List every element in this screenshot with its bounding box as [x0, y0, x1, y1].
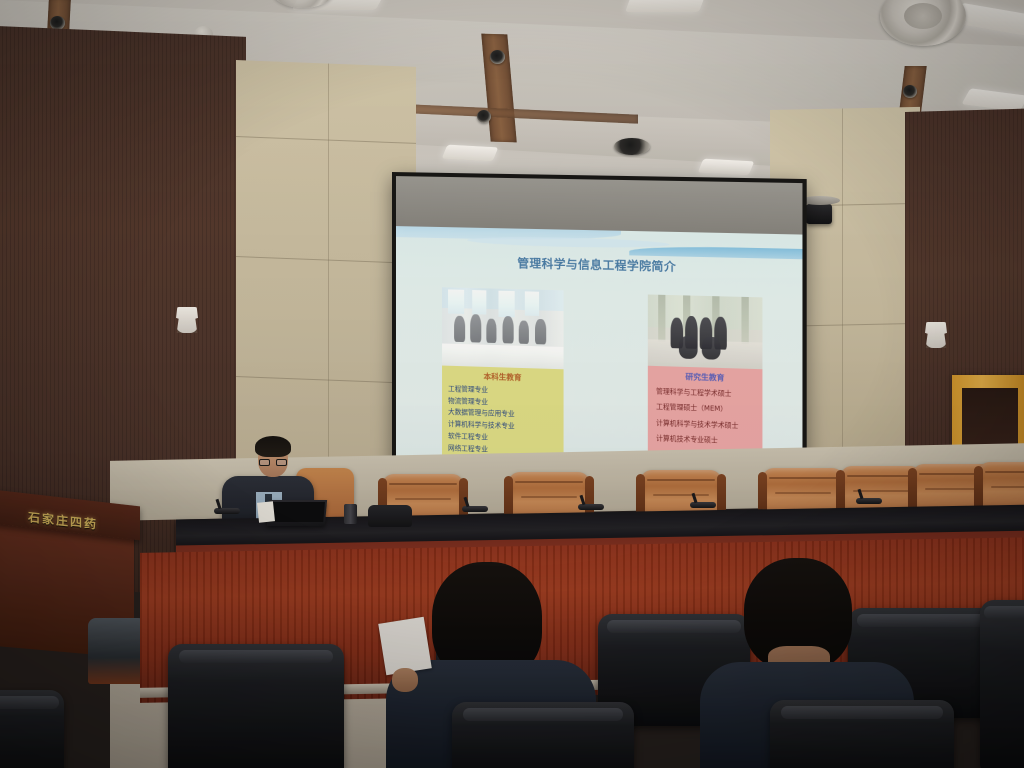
- ceiling-light-bar-5: [442, 145, 499, 162]
- photo-window: [472, 290, 486, 315]
- seat-headrest: [179, 650, 334, 663]
- ceiling-light-bar-2: [625, 0, 705, 12]
- wall-seam: [236, 256, 416, 264]
- photo-graduate: [679, 336, 698, 359]
- wall-sconce-light-left: [176, 307, 198, 333]
- audience-seat-far-right: [980, 600, 1024, 768]
- photo-window: [525, 291, 539, 316]
- classroom-photo: [442, 287, 564, 369]
- microphone-5: [856, 498, 882, 504]
- ceiling-spot-5: [903, 85, 917, 98]
- ceiling-spot-3: [490, 50, 505, 64]
- wall-seam: [236, 376, 416, 384]
- photo-window: [498, 291, 514, 318]
- lectern-side-chair: [88, 618, 146, 684]
- seat-headrest: [984, 606, 1024, 619]
- slide-wave-decoration-3: [467, 236, 669, 250]
- air-vent-icon: [880, 0, 966, 46]
- photo-graduate: [702, 337, 721, 360]
- undergraduate-panel: 本科生教育 工程管理专业 物流管理专业 大数据管理与应用专业 计算机科学与技术专…: [442, 287, 564, 478]
- speaker-hair: [255, 436, 291, 457]
- photo-tree: [741, 297, 748, 344]
- attendee-left-hand: [392, 668, 418, 692]
- wall-sconce-light-right: [925, 322, 947, 348]
- audience-seat-front-right: [770, 700, 954, 768]
- projection-screen: 管理科学与信息工程学院简介: [392, 172, 807, 496]
- ceiling-spot-4: [477, 110, 491, 123]
- seat-headrest: [0, 696, 59, 709]
- microphone-1: [214, 508, 240, 514]
- audience-seat-far-left: [0, 690, 64, 768]
- microphone-4: [690, 502, 716, 508]
- thermos-cup: [344, 504, 357, 524]
- graduation-photo-image: [648, 294, 763, 369]
- laptop-screen: [269, 502, 325, 522]
- graduation-photo: [648, 294, 763, 369]
- photo-student: [535, 319, 546, 345]
- photo-student: [470, 314, 481, 342]
- graduate-program-list: 管理科学与工程学术硕士 工程管理硕士（MEM） 计算机科学与技术学术硕士 计算机…: [648, 381, 763, 451]
- wall-seam: [236, 136, 416, 144]
- seat-headrest: [857, 614, 989, 627]
- seat-headrest: [463, 708, 623, 721]
- photo-tree: [658, 295, 665, 342]
- photo-student: [519, 320, 529, 344]
- ceiling-light-bar-6: [698, 159, 755, 176]
- ceiling-projector-icon: [806, 204, 832, 224]
- audience-seat-front-left: [168, 644, 344, 768]
- seat-headrest: [781, 706, 943, 719]
- photo-window: [448, 289, 464, 314]
- attendee-left-paper: [378, 617, 432, 676]
- seat-headrest: [607, 620, 741, 633]
- downlight-3: [614, 138, 650, 155]
- microphone-2: [462, 506, 488, 512]
- speaker-paper: [257, 501, 275, 523]
- photo-student: [454, 316, 465, 342]
- laptop[interactable]: [267, 500, 327, 526]
- classroom-photo-image: [442, 287, 564, 369]
- black-bag: [368, 505, 412, 527]
- glasses-icon: [259, 459, 287, 466]
- microphone-3: [578, 504, 604, 510]
- conference-hall-scene: 管理科学与信息工程学院简介: [0, 0, 1024, 768]
- photo-student: [503, 316, 514, 344]
- photo-student: [486, 319, 496, 343]
- audience-seat-front-center: [452, 702, 634, 768]
